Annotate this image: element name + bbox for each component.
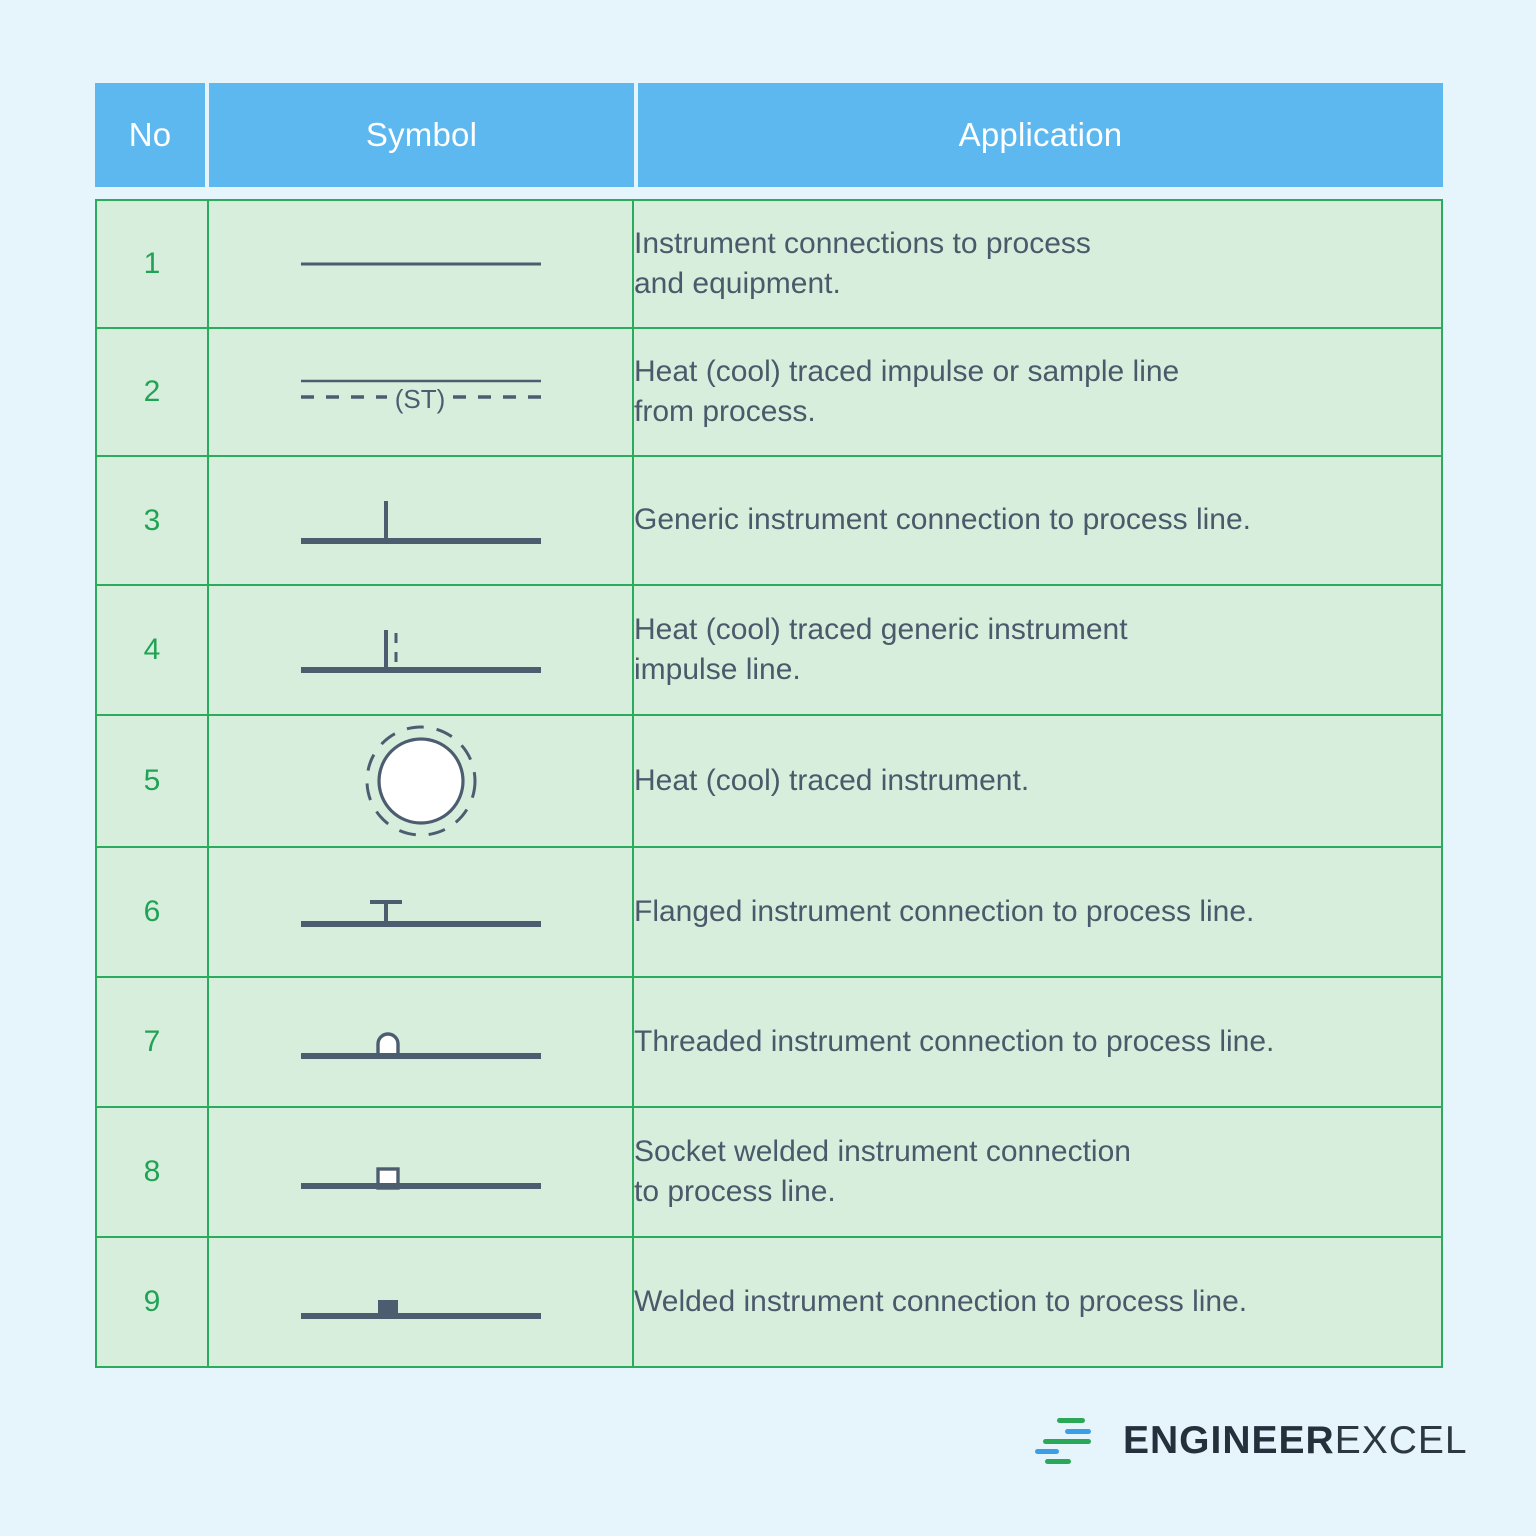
table-row: 8 Socket welded instrument connection to… bbox=[96, 1107, 1442, 1237]
symbols-table: No Symbol Application 1 bbox=[95, 83, 1443, 1368]
symbol-cell bbox=[208, 200, 633, 328]
symbol-cell bbox=[208, 585, 633, 715]
application-line-2: impulse line. bbox=[634, 650, 1441, 691]
application-line-1: Instrument connections to process bbox=[634, 227, 1091, 260]
header-cell-no: No bbox=[95, 83, 205, 187]
application-line-1: Threaded instrument connection to proces… bbox=[634, 1025, 1274, 1058]
application-cell: Heat (cool) traced impulse or sample lin… bbox=[633, 328, 1442, 456]
header-cell-symbol: Symbol bbox=[209, 83, 634, 187]
table-row: 3 Generic instrument connection to proce… bbox=[96, 456, 1442, 585]
symbol-cell bbox=[208, 977, 633, 1107]
application-line-1: Heat (cool) traced generic instrument bbox=[634, 613, 1128, 646]
dashed-line-with-st-label-icon: (ST) bbox=[291, 359, 551, 425]
row-number: 1 bbox=[96, 200, 208, 328]
table-row: 2 (ST) Heat (cool) traced impulse or sam… bbox=[96, 328, 1442, 456]
header-label-symbol: Symbol bbox=[366, 116, 477, 154]
row-number: 7 bbox=[96, 977, 208, 1107]
symbol-cell bbox=[208, 456, 633, 585]
symbol-cell bbox=[208, 1107, 633, 1237]
application-line-1: Welded instrument connection to process … bbox=[634, 1285, 1247, 1318]
solid-process-line-icon bbox=[291, 234, 551, 294]
row-number: 4 bbox=[96, 585, 208, 715]
infographic-page: No Symbol Application 1 bbox=[0, 0, 1536, 1536]
symbol-cell bbox=[208, 715, 633, 847]
application-cell: Generic instrument connection to process… bbox=[633, 456, 1442, 585]
symbol-label-st: (ST) bbox=[394, 384, 445, 414]
table-row: 7 Threaded instrument connection to proc… bbox=[96, 977, 1442, 1107]
symbol-cell: (ST) bbox=[208, 328, 633, 456]
threaded-connection-icon bbox=[291, 1012, 551, 1072]
header-label-application: Application bbox=[959, 116, 1123, 154]
table-row: 1 Instrument connections to process and … bbox=[96, 200, 1442, 328]
application-line-1: Generic instrument connection to process… bbox=[634, 503, 1251, 536]
application-line-1: Heat (cool) traced instrument. bbox=[634, 764, 1029, 797]
application-cell: Socket welded instrument connection to p… bbox=[633, 1107, 1442, 1237]
row-number: 3 bbox=[96, 456, 208, 585]
generic-instrument-connection-icon bbox=[291, 485, 551, 557]
application-cell: Flanged instrument connection to process… bbox=[633, 847, 1442, 977]
table-row: 6 Flanged instrument connection to proce… bbox=[96, 847, 1442, 977]
table-row: 5 Heat (cool) traced instrument. bbox=[96, 715, 1442, 847]
flanged-connection-icon bbox=[291, 882, 551, 942]
application-cell: Instrument connections to process and eq… bbox=[633, 200, 1442, 328]
table-header-row: No Symbol Application bbox=[95, 83, 1443, 187]
logo-wordmark: ENGINEEREXCEL bbox=[1123, 1419, 1468, 1463]
header-label-no: No bbox=[129, 116, 172, 154]
symbol-cell bbox=[208, 1237, 633, 1367]
socket-welded-connection-icon bbox=[291, 1142, 551, 1202]
application-line-1: Socket welded instrument connection bbox=[634, 1135, 1131, 1168]
application-cell: Welded instrument connection to process … bbox=[633, 1237, 1442, 1367]
heat-traced-generic-impulse-line-icon bbox=[291, 614, 551, 686]
logo-brand-bold: ENGINEER bbox=[1123, 1419, 1335, 1462]
logo-bars-icon bbox=[1035, 1412, 1105, 1470]
row-number: 6 bbox=[96, 847, 208, 977]
row-number: 5 bbox=[96, 715, 208, 847]
row-number: 8 bbox=[96, 1107, 208, 1237]
table-row: 9 Welded instrument connection to proces… bbox=[96, 1237, 1442, 1367]
application-line-1: Heat (cool) traced impulse or sample lin… bbox=[634, 355, 1179, 388]
logo-brand-light: EXCEL bbox=[1335, 1419, 1468, 1462]
application-line-2: from process. bbox=[634, 392, 1441, 433]
welded-connection-icon bbox=[291, 1272, 551, 1332]
application-cell: Heat (cool) traced generic instrument im… bbox=[633, 585, 1442, 715]
table-row: 4 Heat (cool) traced generic instrument … bbox=[96, 585, 1442, 715]
row-number: 9 bbox=[96, 1237, 208, 1367]
application-cell: Threaded instrument connection to proces… bbox=[633, 977, 1442, 1107]
row-number: 2 bbox=[96, 328, 208, 456]
header-cell-application: Application bbox=[638, 83, 1443, 187]
application-line-1: Flanged instrument connection to process… bbox=[634, 895, 1254, 928]
application-cell: Heat (cool) traced instrument. bbox=[633, 715, 1442, 847]
symbol-cell bbox=[208, 847, 633, 977]
heat-traced-instrument-circle-icon bbox=[356, 716, 486, 846]
symbols-table-body: 1 Instrument connections to process and … bbox=[95, 199, 1443, 1368]
engineerexcel-logo: ENGINEEREXCEL bbox=[1035, 1412, 1468, 1470]
application-line-2: to process line. bbox=[634, 1172, 1441, 1213]
application-line-2: and equipment. bbox=[634, 264, 1441, 305]
